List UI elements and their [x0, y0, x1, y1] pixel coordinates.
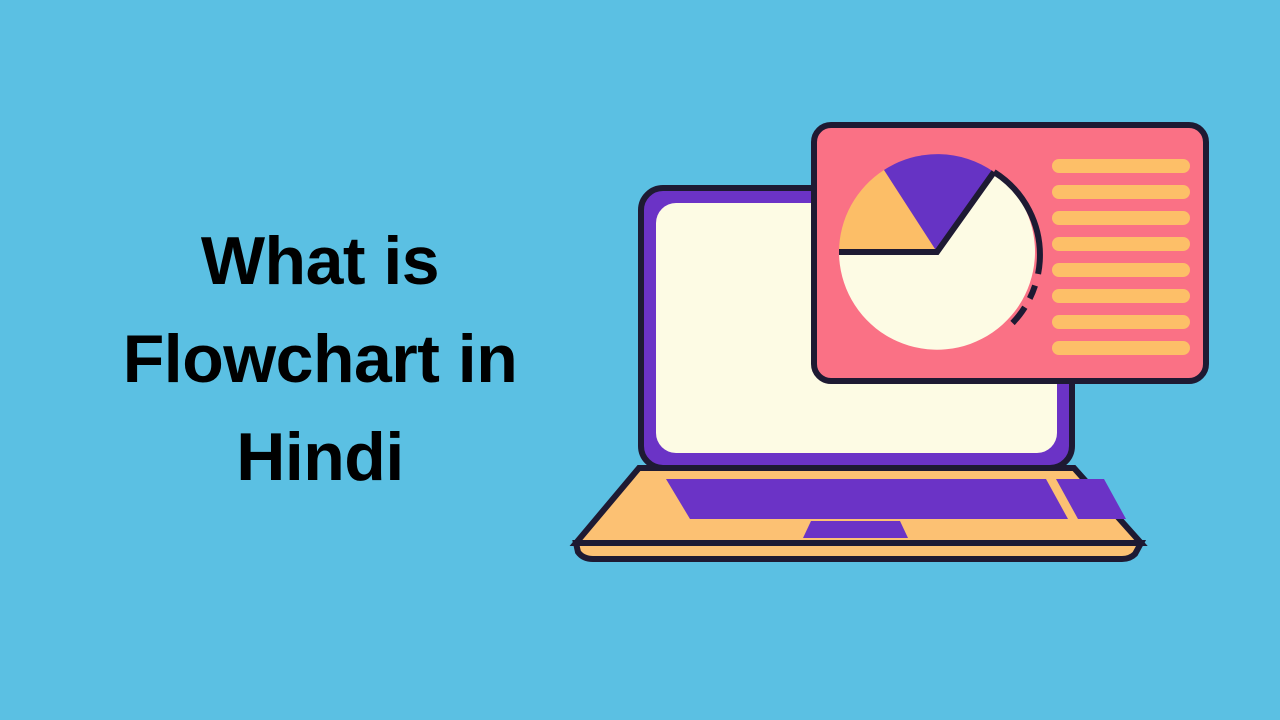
page-title: What is Flowchart in Hindi: [70, 212, 570, 506]
dashboard-card: [814, 125, 1206, 381]
dashboard-bar: [1052, 263, 1190, 277]
dashboard-bar: [1052, 341, 1190, 355]
poster-canvas: What is Flowchart in Hindi: [0, 0, 1280, 720]
dashboard-bar: [1052, 159, 1190, 173]
illustration-laptop-dashboard: [540, 95, 1240, 585]
dashboard-bar: [1052, 315, 1190, 329]
laptop-trackpad: [803, 521, 908, 538]
dashboard-bar: [1052, 185, 1190, 199]
dashboard-bar: [1052, 289, 1190, 303]
laptop-keyboard: [666, 479, 1068, 519]
dashboard-bar: [1052, 211, 1190, 225]
dashboard-bar: [1052, 237, 1190, 251]
laptop-base-group: [576, 468, 1141, 559]
